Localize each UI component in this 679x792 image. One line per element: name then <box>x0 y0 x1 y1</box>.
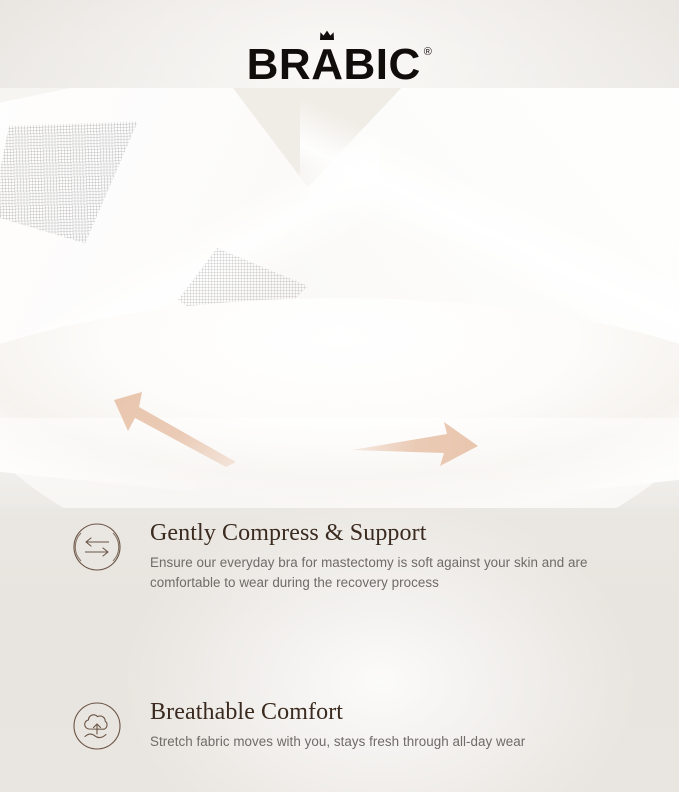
breathable-cloud-icon <box>72 701 122 751</box>
brand-wordmark: BR A BIC ® <box>247 43 433 87</box>
feature-item-compress: Gently Compress & Support Ensure our eve… <box>0 520 679 593</box>
feature-title: Gently Compress & Support <box>150 520 622 548</box>
feature-item-breathable: Breathable Comfort Stretch fabric moves … <box>0 699 679 752</box>
registered-trademark-icon: ® <box>424 47 433 58</box>
product-feature-page: BR A BIC ® <box>0 0 679 792</box>
fabric-bottom-glow <box>0 418 679 508</box>
brabic-logo: BR A BIC ® <box>247 43 433 87</box>
feature-list: Gently Compress & Support Ensure our eve… <box>0 520 679 752</box>
brand-accent-letter-glyph: A <box>311 40 343 89</box>
feature-description: Ensure our everyday bra for mastectomy i… <box>150 553 622 594</box>
feature-title: Breathable Comfort <box>150 699 525 727</box>
feature-text-block: Breathable Comfort Stretch fabric moves … <box>150 699 525 752</box>
compress-arrows-icon <box>72 522 122 572</box>
feature-description: Stretch fabric moves with you, stays fre… <box>150 732 525 752</box>
fabric-hero-image <box>0 88 679 508</box>
stretch-arrow-left-icon <box>108 388 238 468</box>
brand-name-part-1: BR <box>247 43 312 87</box>
crown-icon <box>319 30 335 41</box>
brand-name-part-2: BIC <box>343 43 420 87</box>
stretch-arrow-right-icon <box>352 420 480 478</box>
feature-text-block: Gently Compress & Support Ensure our eve… <box>150 520 622 593</box>
brand-accent-letter-a: A <box>311 43 343 87</box>
